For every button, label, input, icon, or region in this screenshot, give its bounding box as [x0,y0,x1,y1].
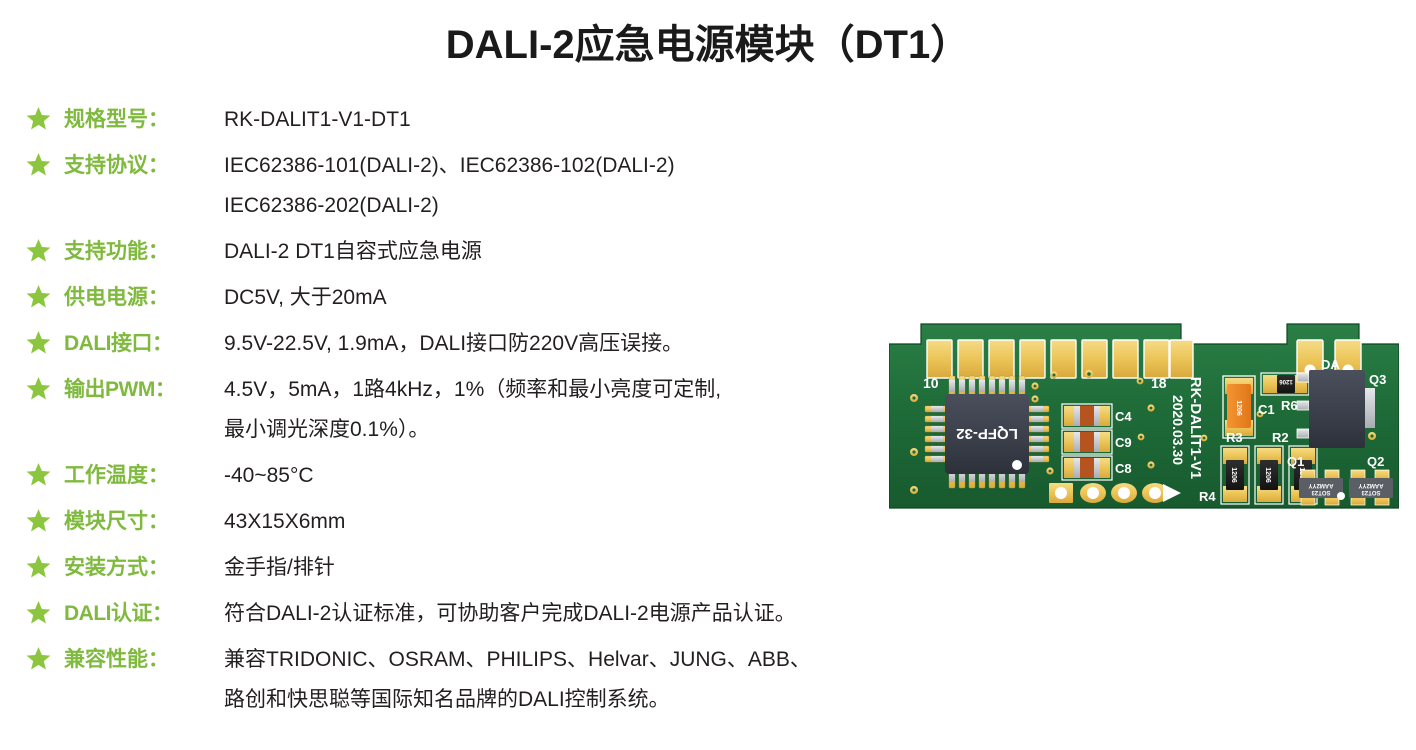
spec-value-line: 金手指/排针 [224,548,986,588]
star-icon [26,508,51,533]
silkscreen-refdes-q1: Q1 [1287,454,1304,469]
through-hole-pads [1049,483,1181,503]
spec-value: RK-DALIT1-V1-DT1 [224,100,986,140]
gold-finger-pads [927,340,1193,378]
spec-label: DALI接口： [64,324,224,364]
spec-value-line: 兼容TRIDONIC、OSRAM、PHILIPS、Helvar、JUNG、ABB… [224,640,986,680]
spec-value-line: 43X15X6mm [224,502,986,542]
svg-text:1206: 1206 [1230,467,1237,483]
star-icon [26,152,51,177]
silkscreen-pin-18: 18 [1151,375,1167,391]
svg-text:AAM2YY: AAM2YY [1358,482,1383,488]
silkscreen-refdes-r6: R6 [1281,398,1298,413]
star-bullet-cell [26,324,64,355]
spec-row: 工作温度： -40~85°C [26,456,986,496]
silkscreen-refdes-c4: C4 [1115,409,1132,424]
svg-text:SOT23: SOT23 [1361,489,1381,495]
star-icon [26,646,51,671]
silkscreen-refdes-c8: C8 [1115,461,1132,476]
star-bullet-cell [26,370,64,401]
star-icon [26,376,51,401]
star-bullet-cell [26,146,64,177]
silkscreen-refdes-r2: R2 [1272,430,1289,445]
spec-label: 工作温度： [64,456,224,496]
silkscreen-refdes-q2: Q2 [1367,454,1384,469]
star-bullet-cell [26,594,64,625]
svg-text:1206: 1206 [1264,467,1271,483]
spec-value-line: 最小调光深度0.1%）。 [224,410,986,450]
star-bullet-cell [26,232,64,263]
star-bullet-cell [26,502,64,533]
spec-value-line: 9.5V-22.5V, 1.9mA，DALI接口防220V高压误接。 [224,324,986,364]
spec-row: 兼容性能： 兼容TRIDONIC、OSRAM、PHILIPS、Helvar、JU… [26,640,986,720]
spec-row: DALI认证： 符合DALI-2认证标准，可协助客户完成DALI-2电源产品认证… [26,594,986,634]
silkscreen-c1-marking: 1206 [1235,400,1242,416]
spec-value: 金手指/排针 [224,548,986,588]
spec-row: 供电电源： DC5V, 大于20mA [26,278,986,318]
silkscreen-refdes-r3: R3 [1226,430,1243,445]
spec-row: 支持功能： DALI-2 DT1自容式应急电源 [26,232,986,272]
spec-row: 输出PWM： 4.5V，5mA，1路4kHz，1%（频率和最小亮度可定制, 最小… [26,370,986,450]
page-title: DALI-2应急电源模块（DT1） [0,12,1416,70]
spec-value-line: 符合DALI-2认证标准，可协助客户完成DALI-2电源产品认证。 [224,594,986,634]
spec-label: 兼容性能： [64,640,224,680]
silkscreen-refdes-q3: Q3 [1369,372,1386,387]
pcb-module-image: DA 10 18 [889,318,1399,516]
silkscreen-chip-label: LQFP-32 [956,425,1018,442]
star-bullet-cell [26,100,64,131]
svg-text:SOT23: SOT23 [1311,489,1331,495]
spec-label: 支持协议： [64,146,224,186]
star-icon [26,284,51,309]
spec-value: DALI-2 DT1自容式应急电源 [224,232,986,272]
spec-label: 规格型号： [64,100,224,140]
star-icon [26,554,51,579]
spec-row: 安装方式： 金手指/排针 [26,548,986,588]
svg-text:AAM2YY: AAM2YY [1308,482,1333,488]
star-bullet-cell [26,456,64,487]
star-bullet-cell [26,640,64,671]
spec-value-line: 4.5V，5mA，1路4kHz，1%（频率和最小亮度可定制, [224,370,986,410]
spec-label: DALI认证： [64,594,224,634]
svg-text:1206: 1206 [1279,378,1293,384]
spec-value: IEC62386-101(DALI-2)、IEC62386-102(DALI-2… [224,146,986,226]
spec-label: 支持功能： [64,232,224,272]
spec-value-line: IEC62386-202(DALI-2) [224,186,986,226]
spec-value: 43X15X6mm [224,502,986,542]
silkscreen-da-label: DA [1321,357,1340,372]
star-icon [26,106,51,131]
spec-label: 模块尺寸： [64,502,224,542]
spec-value-line: -40~85°C [224,456,986,496]
spec-value: 符合DALI-2认证标准，可协助客户完成DALI-2电源产品认证。 [224,594,986,634]
star-bullet-cell [26,278,64,309]
star-bullet-cell [26,548,64,579]
star-icon [26,462,51,487]
capacitor-group-c4-c9-c8: C4 C9 C8 [1062,404,1132,480]
spec-list: 规格型号： RK-DALIT1-V1-DT1 支持协议： IEC62386-10… [26,100,986,726]
spec-value-line: DC5V, 大于20mA [224,278,986,318]
spec-value: 兼容TRIDONIC、OSRAM、PHILIPS、Helvar、JUNG、ABB… [224,640,986,720]
spec-row: 模块尺寸： 43X15X6mm [26,502,986,542]
spec-label: 供电电源： [64,278,224,318]
spec-value-line: RK-DALIT1-V1-DT1 [224,100,986,140]
pcb-illustration: DA 10 18 [889,318,1399,516]
pcb-test-point [1337,492,1345,500]
spec-value: DC5V, 大于20mA [224,278,986,318]
spec-value: -40~85°C [224,456,986,496]
silkscreen-board-name: RK-DALIT1-V1 [1187,377,1204,480]
spec-row: 规格型号： RK-DALIT1-V1-DT1 [26,100,986,140]
spec-value: 4.5V，5mA，1路4kHz，1%（频率和最小亮度可定制, 最小调光深度0.1… [224,370,986,450]
spec-row: 支持协议： IEC62386-101(DALI-2)、IEC62386-102(… [26,146,986,226]
silkscreen-refdes-c9: C9 [1115,435,1132,450]
spec-label: 安装方式： [64,548,224,588]
spec-value-line: IEC62386-101(DALI-2)、IEC62386-102(DALI-2… [224,146,986,186]
silkscreen-refdes-c1: C1 [1258,402,1275,417]
star-icon [26,600,51,625]
spec-label: 输出PWM： [64,370,224,410]
star-icon [26,238,51,263]
spec-value-line: 路创和快思聪等国际知名品牌的DALI控制系统。 [224,680,986,720]
star-icon [26,330,51,355]
spec-value-line: DALI-2 DT1自容式应急电源 [224,232,986,272]
silkscreen-pin-10: 10 [923,375,939,391]
silkscreen-refdes-r4: R4 [1199,489,1216,504]
silkscreen-board-date: 2020.03.30 [1170,395,1186,465]
spec-value: 9.5V-22.5V, 1.9mA，DALI接口防220V高压误接。 [224,324,986,364]
spec-row: DALI接口： 9.5V-22.5V, 1.9mA，DALI接口防220V高压误… [26,324,986,364]
